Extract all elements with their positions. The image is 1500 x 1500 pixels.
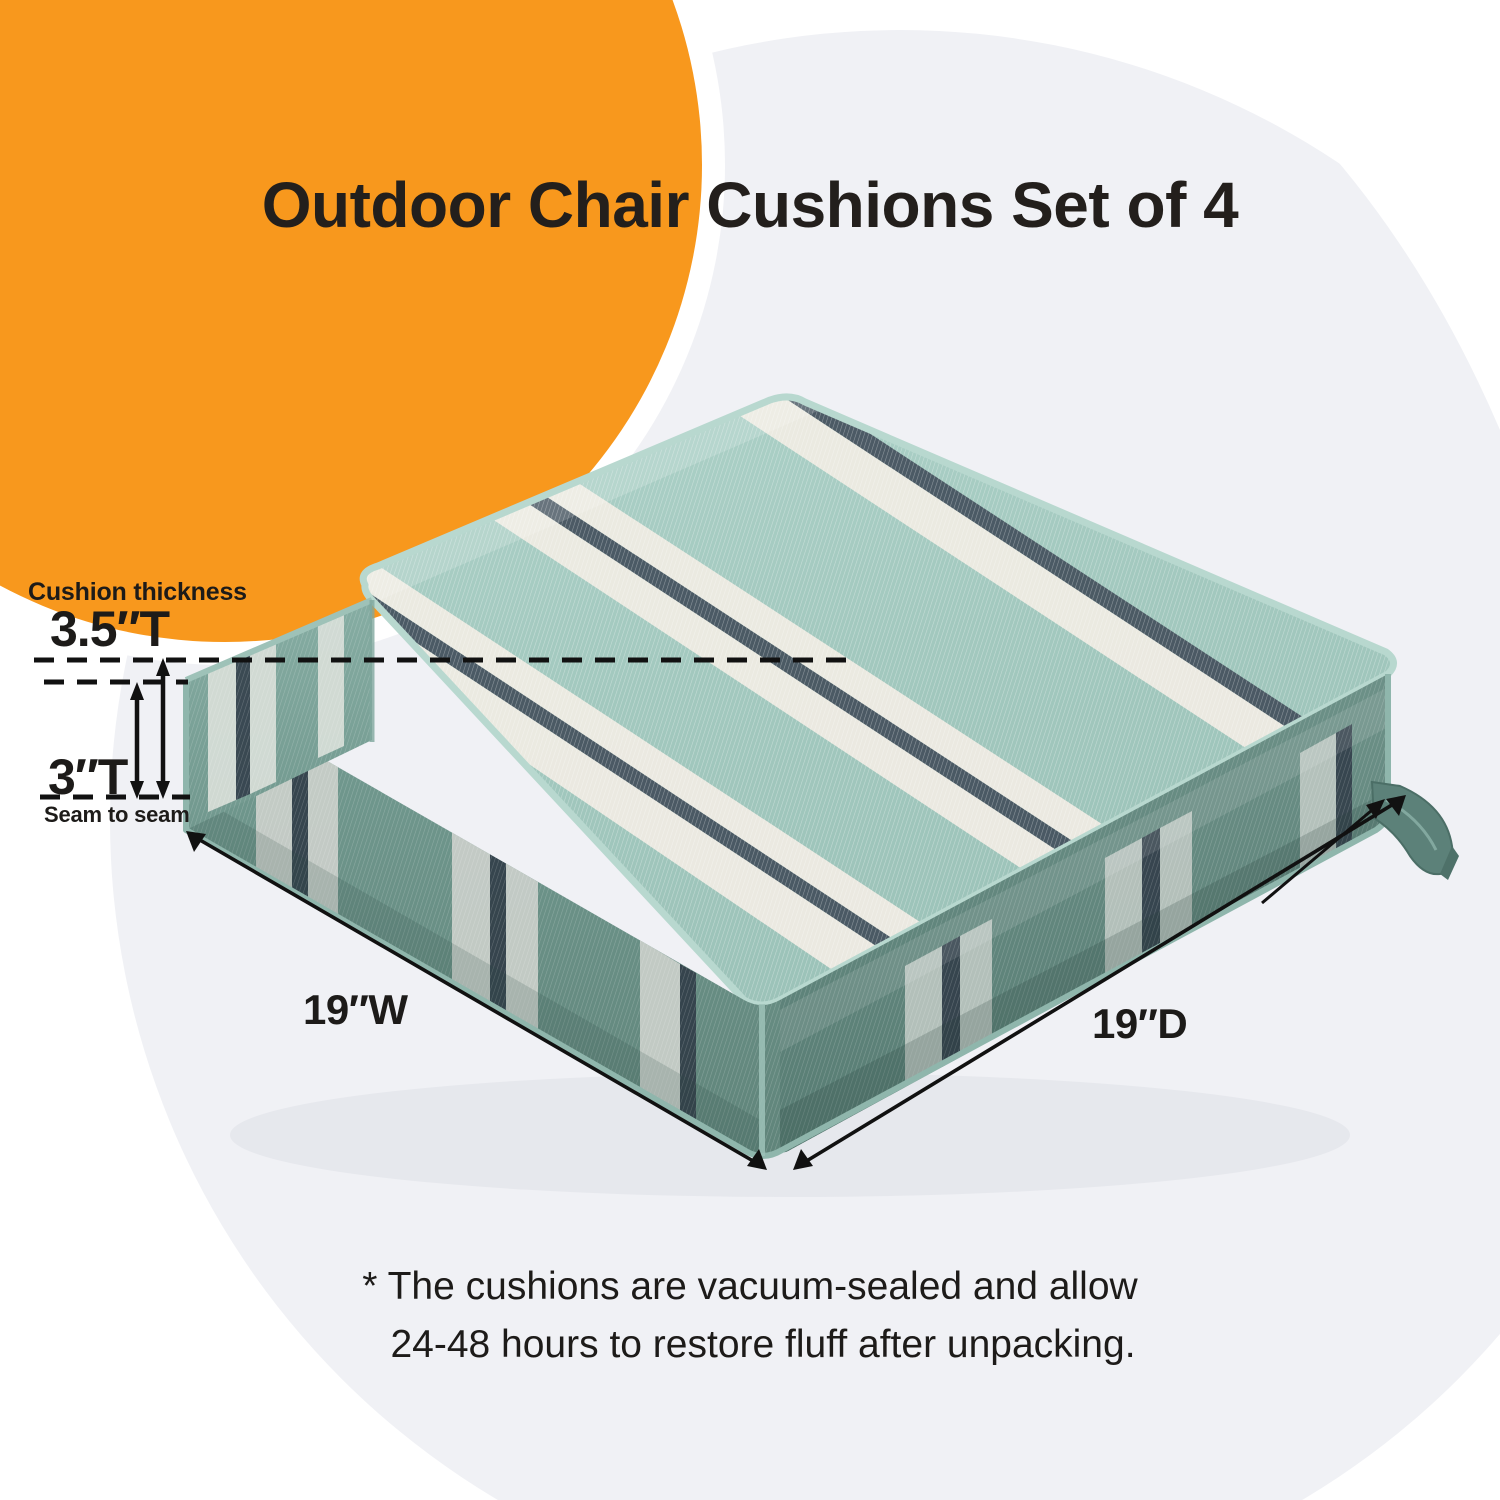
footnote-line-2: 24-48 hours to restore fluff after unpac… [0,1316,1500,1374]
label-thickness-seam: 3″T [48,748,127,806]
arrow-total-thickness [156,658,170,799]
footnote-text-1: The cushions are vacuum-sealed and allow [388,1265,1138,1308]
label-width: 19″W [303,986,407,1034]
footnote-marker: * [362,1265,377,1308]
arrow-width [186,831,767,1170]
page-title: Outdoor Chair Cushions Set of 4 [0,168,1500,242]
pointer-tie-strap [1262,799,1385,903]
label-depth: 19″D [1092,1000,1187,1048]
label-seam-to-seam: Seam to seam [44,802,190,828]
label-thickness-total: 3.5″T [50,600,169,658]
footnote-line-1: * The cushions are vacuum-sealed and all… [0,1258,1500,1316]
infographic-canvas: Outdoor Chair Cushions Set of 4 [0,0,1500,1500]
arrow-seam-thickness [130,682,144,799]
footnote: * The cushions are vacuum-sealed and all… [0,1258,1500,1374]
